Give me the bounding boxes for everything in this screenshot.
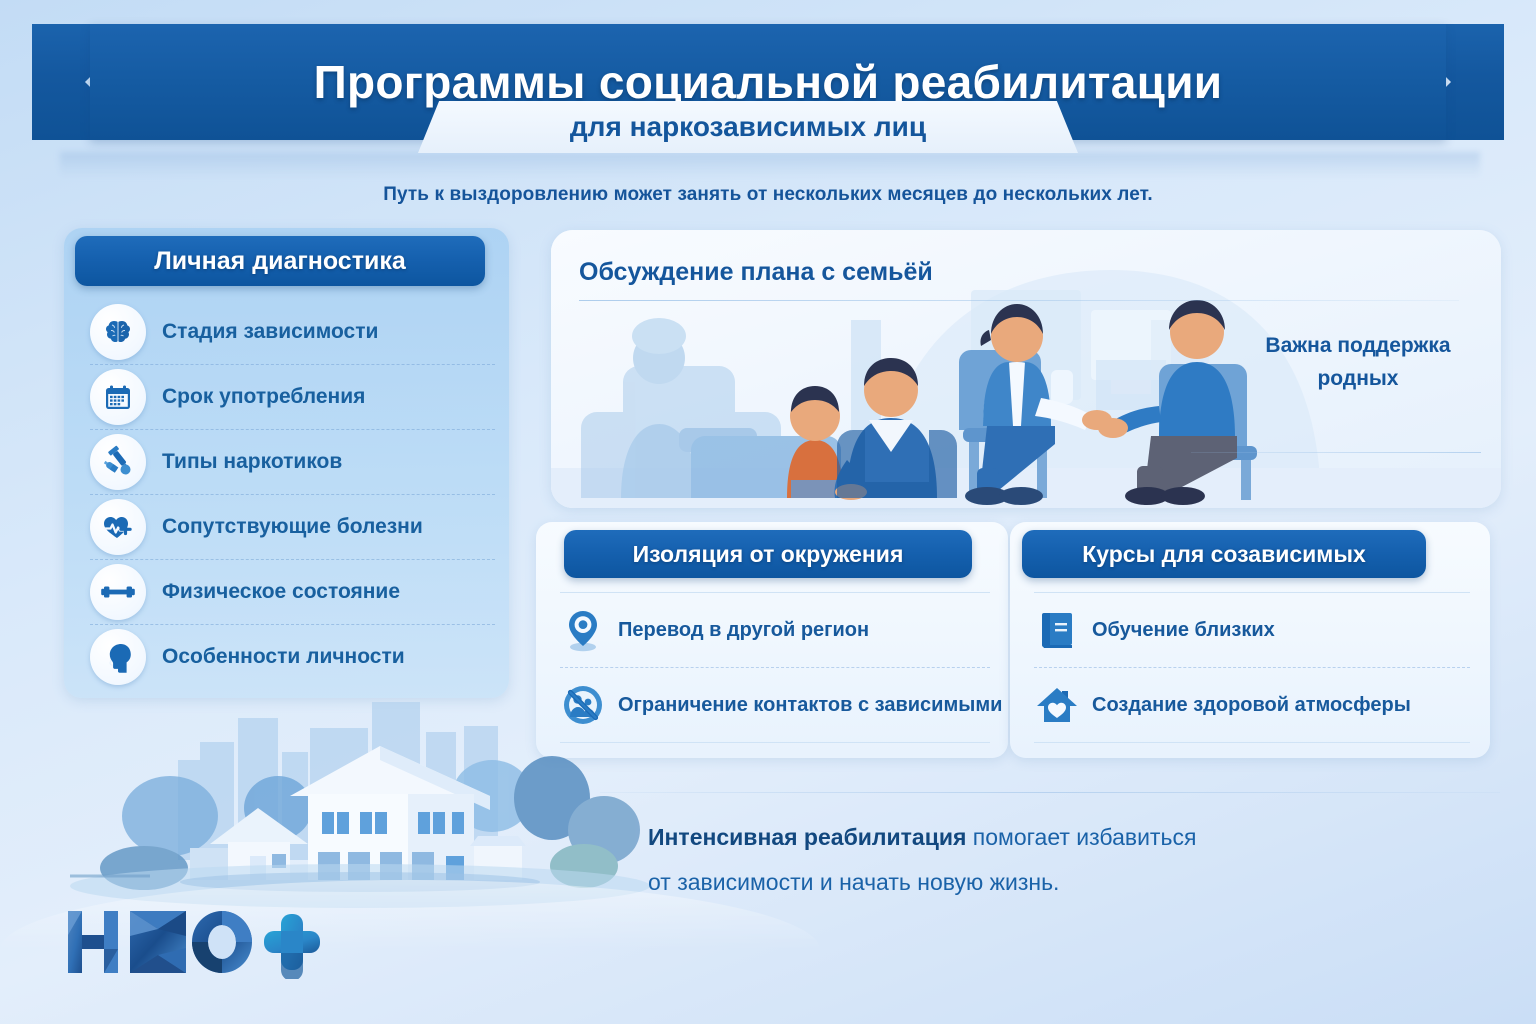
list-item-label: Создание здоровой атмосферы — [1092, 694, 1411, 717]
list-item[interactable]: Создание здоровой атмосферы — [1034, 668, 1470, 743]
closing-line2: от зависимости и начать новую жизнь. — [648, 869, 1059, 895]
header-ribbon-shadow — [60, 152, 1480, 178]
list-item-label: Срок употребления — [162, 385, 365, 409]
list-item[interactable]: Стадия зависимости — [90, 300, 495, 365]
family-session-illustration: Обсуждение плана с семьёй Важна поддержк… — [551, 230, 1501, 508]
page-subtitle: для наркозависимых лиц — [570, 111, 926, 143]
home-heart-icon — [1034, 682, 1080, 728]
dumbbell-icon — [90, 564, 146, 620]
list-item-label: Ограничение контактов с зависимыми — [618, 694, 1002, 717]
closing-statement: Интенсивная реабилитация помогает избави… — [648, 815, 1348, 905]
list-item-label: Обучение близких — [1092, 619, 1275, 642]
diagnostics-list: Стадия зависимости — [90, 300, 495, 689]
list-item[interactable]: Срок употребления — [90, 365, 495, 430]
neo-plus-logo-mark — [62, 905, 322, 979]
list-item-label: Особенности личности — [162, 645, 405, 669]
codependents-courses-heading: Курсы для созависимых — [1022, 530, 1426, 578]
brain-icon — [90, 304, 146, 360]
brand-logo[interactable] — [62, 905, 322, 979]
list-item[interactable]: Перевод в другой регион — [560, 592, 990, 668]
list-item-label: Сопутствующие болезни — [162, 515, 423, 539]
list-item-label: Перевод в другой регион — [618, 619, 869, 642]
header-subribbon: для наркозависимых лиц — [418, 101, 1078, 153]
lede-text: Путь к выздоровлению может занять от нес… — [0, 184, 1536, 206]
heart-pulse-icon — [90, 499, 146, 555]
syringe-icon — [90, 434, 146, 490]
list-item[interactable]: Обучение близких — [1034, 592, 1470, 668]
list-item-label: Физическое состояние — [162, 580, 400, 604]
calendar-icon — [90, 369, 146, 425]
illustration-rule-lower — [1191, 452, 1481, 453]
illustration-note: Важна поддержка родных — [1243, 330, 1473, 395]
illustration-title: Обсуждение плана с семьёй — [579, 258, 933, 287]
list-item[interactable]: Типы наркотиков — [90, 430, 495, 495]
infographic-canvas: Программы социальной реабилитации для на… — [0, 0, 1536, 1024]
closing-rest: помогает избавиться — [966, 824, 1196, 850]
list-item-label: Стадия зависимости — [162, 320, 378, 344]
map-pin-icon — [560, 607, 606, 653]
isolation-card-heading: Изоляция от окружения — [564, 530, 972, 578]
list-item-label: Типы наркотиков — [162, 450, 342, 474]
list-item[interactable]: Особенности личности — [90, 625, 495, 689]
illustration-rule — [579, 300, 1459, 301]
head-profile-icon — [90, 629, 146, 685]
book-icon — [1034, 607, 1080, 653]
codependents-courses-list: Обучение близких Создание здоровой атмос… — [1034, 592, 1470, 743]
list-item[interactable]: Сопутствующие болезни — [90, 495, 495, 560]
closing-divider — [600, 792, 1500, 793]
diagnostics-heading: Личная диагностика — [75, 236, 485, 286]
closing-strong: Интенсивная реабилитация — [648, 824, 966, 850]
list-item[interactable]: Физическое состояние — [90, 560, 495, 625]
